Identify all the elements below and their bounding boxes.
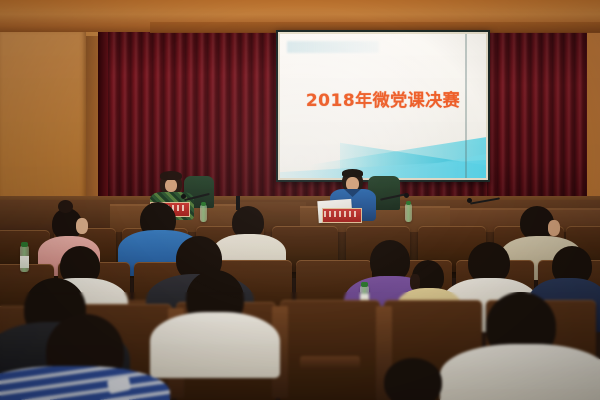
microphone-base-icon: [404, 193, 409, 198]
audience-row-front: [0, 300, 600, 400]
water-bottle-cap: [201, 202, 206, 206]
audience-body: [150, 312, 280, 378]
audience-head: [384, 358, 442, 400]
slide-watermark-icon: [287, 41, 379, 53]
audience-face: [76, 218, 88, 234]
speaker-left-hair: [160, 171, 182, 180]
seat-armrest: [300, 356, 360, 370]
screen-seam: [465, 34, 467, 178]
water-bottle-cap: [21, 242, 28, 247]
stage-curtain-right: [487, 28, 587, 218]
water-bottle-cap: [406, 201, 411, 205]
water-bottle-label: [20, 256, 29, 268]
speaker-center-hair: [342, 169, 363, 177]
audience-face: [548, 220, 560, 236]
audience-body: [440, 344, 600, 400]
audience-hair-bun: [58, 200, 73, 213]
projection-screen: 2018年微党课决赛: [280, 34, 486, 178]
speaker-left-face: [165, 179, 177, 192]
auditorium-photo: 2018年微党课决赛: [0, 0, 600, 400]
slide-title: 2018年微党课决赛: [280, 86, 486, 111]
microphone-base-icon: [181, 194, 186, 199]
water-bottle-cap: [361, 282, 368, 287]
microphone-base-icon: [467, 198, 472, 203]
stage-curtain-left-edge: [98, 28, 108, 218]
seat: [280, 300, 380, 400]
